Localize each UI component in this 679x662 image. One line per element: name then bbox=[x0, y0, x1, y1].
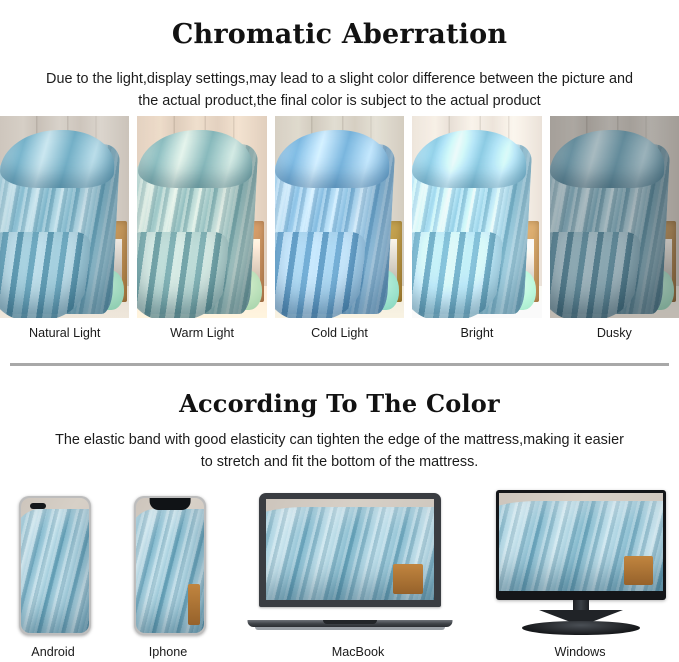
wooden-stool bbox=[393, 564, 423, 594]
panel-label-cold-light: Cold Light bbox=[275, 318, 404, 348]
blanket-closeup bbox=[21, 509, 89, 633]
macbook-foot bbox=[255, 627, 445, 630]
color-subtitle-line-1: The elastic band with good elasticity ca… bbox=[0, 429, 679, 451]
monitor-base bbox=[522, 621, 640, 635]
blanket-product bbox=[412, 144, 533, 314]
iphone-notch-icon bbox=[150, 498, 191, 510]
page-title-chromatic-aberration: Chromatic Aberration bbox=[0, 18, 679, 50]
chromatic-subtitle-line-2: the actual product,the final color is su… bbox=[0, 90, 679, 112]
device-android-phone bbox=[19, 496, 91, 635]
wooden-stool bbox=[624, 556, 654, 585]
panel-dusky bbox=[550, 116, 679, 318]
device-mockup-row bbox=[0, 488, 679, 638]
device-macbook bbox=[247, 493, 452, 638]
section-divider bbox=[10, 363, 669, 366]
page-title-according-to-the-color: According To The Color bbox=[0, 390, 679, 418]
blanket-product bbox=[137, 144, 258, 314]
panel-label-bright: Bright bbox=[412, 318, 541, 348]
device-windows-monitor bbox=[496, 490, 666, 640]
panel-bright bbox=[412, 116, 541, 318]
color-subtitle-line-2: to stretch and fit the bottom of the mat… bbox=[0, 451, 679, 473]
blanket-scene-cold bbox=[275, 116, 404, 318]
panel-cold-light bbox=[275, 116, 404, 318]
macbook-screen bbox=[266, 499, 434, 600]
panel-label-natural-light: Natural Light bbox=[0, 318, 129, 348]
iphone-wallpaper bbox=[136, 498, 204, 633]
device-label-macbook: MacBook bbox=[332, 642, 385, 662]
wooden-stool bbox=[188, 584, 200, 625]
android-screen bbox=[21, 498, 89, 633]
device-label-android: Android bbox=[31, 642, 74, 662]
panel-label-dusky: Dusky bbox=[550, 318, 679, 348]
android-camera-cutout-icon bbox=[30, 503, 46, 509]
device-label-windows: Windows bbox=[554, 642, 605, 662]
panel-warm-light bbox=[137, 116, 266, 318]
macbook-display bbox=[259, 493, 441, 607]
monitor-display bbox=[496, 490, 666, 600]
macbook-trackpad-notch bbox=[323, 620, 377, 624]
blanket-product bbox=[275, 144, 396, 314]
device-label-row: Android Iphone MacBook Windows bbox=[0, 642, 679, 662]
device-iphone bbox=[134, 496, 206, 635]
chromatic-subtitle-line-1: Due to the light,display settings,may le… bbox=[0, 68, 679, 90]
monitor-wallpaper bbox=[499, 493, 663, 591]
infographic-page: Chromatic Aberration Due to the light,di… bbox=[0, 18, 679, 662]
panel-natural-light bbox=[0, 116, 129, 318]
blanket-scene-dusky bbox=[550, 116, 679, 318]
iphone-screen bbox=[136, 498, 204, 633]
panel-label-row: Natural Light Warm Light Cold Light Brig… bbox=[0, 318, 679, 348]
macbook-wallpaper bbox=[266, 499, 434, 600]
monitor-screen bbox=[499, 493, 663, 591]
device-label-iphone: Iphone bbox=[149, 642, 188, 662]
blanket-scene-natural bbox=[0, 116, 129, 318]
blanket-product bbox=[550, 144, 671, 314]
color-comparison-panels bbox=[0, 116, 679, 318]
blanket-scene-warm bbox=[137, 116, 266, 318]
blanket-scene-bright bbox=[412, 116, 541, 318]
blanket-product bbox=[0, 144, 121, 314]
android-wallpaper bbox=[21, 498, 89, 633]
panel-label-warm-light: Warm Light bbox=[137, 318, 266, 348]
